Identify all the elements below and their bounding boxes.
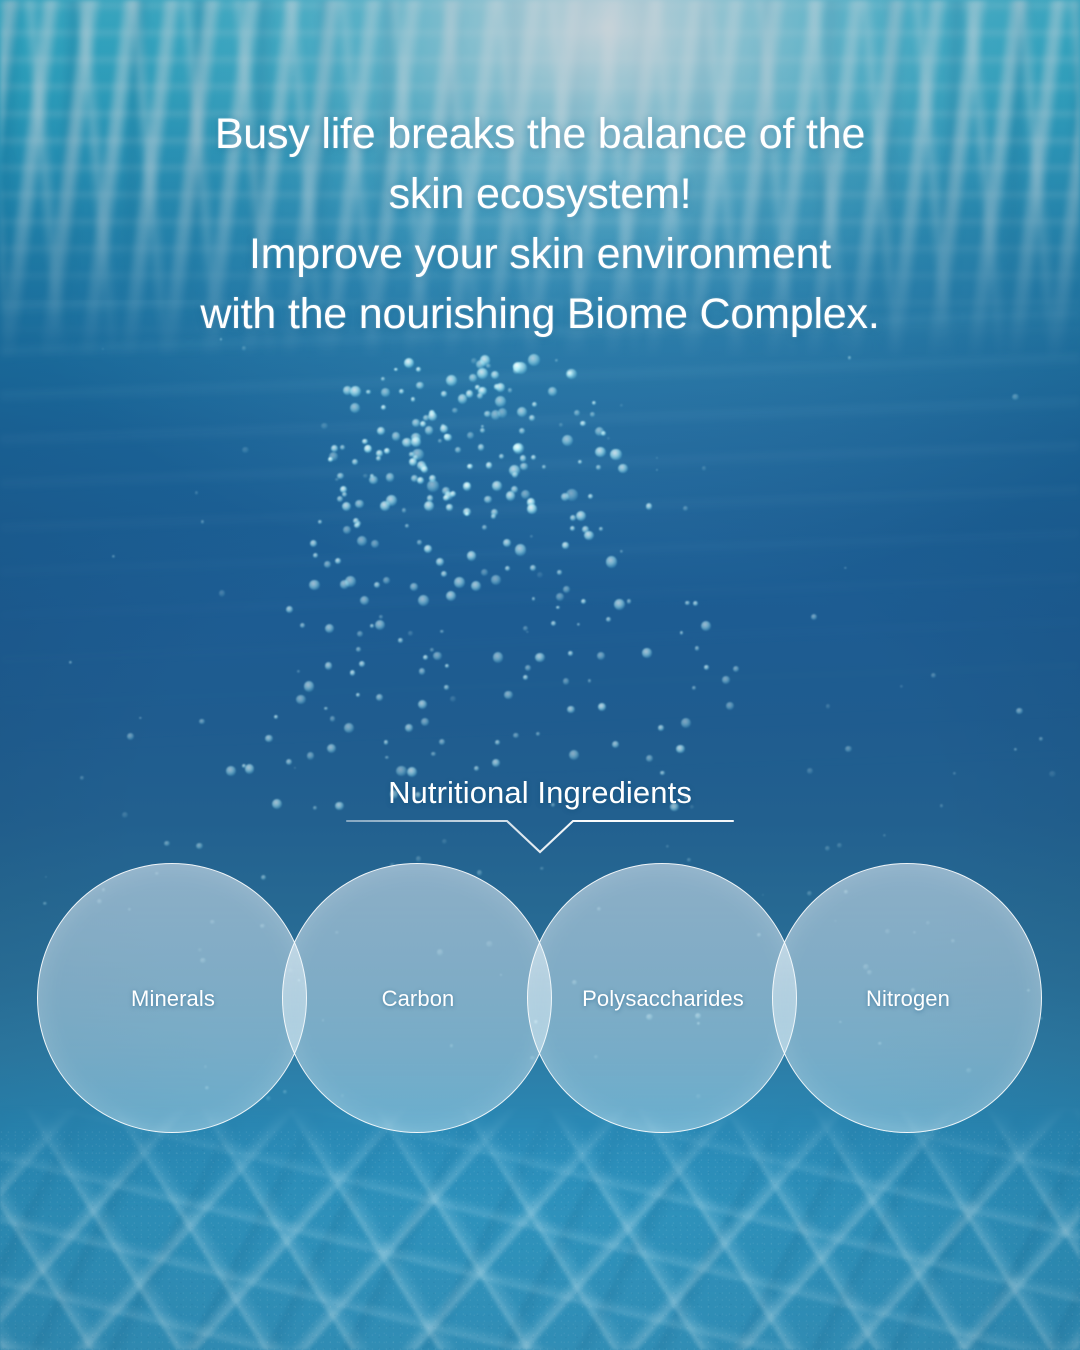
ingredient-label-minerals: Minerals xyxy=(38,864,308,1134)
ingredient-circle-minerals[interactable]: Minerals xyxy=(37,863,307,1133)
ingredient-label-polysaccharides: Polysaccharides xyxy=(528,864,798,1134)
ingredient-label-carbon: Carbon xyxy=(283,864,553,1134)
ingredient-label-nitrogen: Nitrogen xyxy=(773,864,1043,1134)
ingredient-circle-polysaccharides[interactable]: Polysaccharides xyxy=(527,863,797,1133)
poster-canvas: Busy life breaks the balance of the skin… xyxy=(0,0,1080,1350)
ingredient-circle-carbon[interactable]: Carbon xyxy=(282,863,552,1133)
ingredient-circle-nitrogen[interactable]: Nitrogen xyxy=(772,863,1042,1133)
ingredient-circles-group: Minerals Carbon Polysaccharides Nitrogen xyxy=(0,0,1080,1350)
